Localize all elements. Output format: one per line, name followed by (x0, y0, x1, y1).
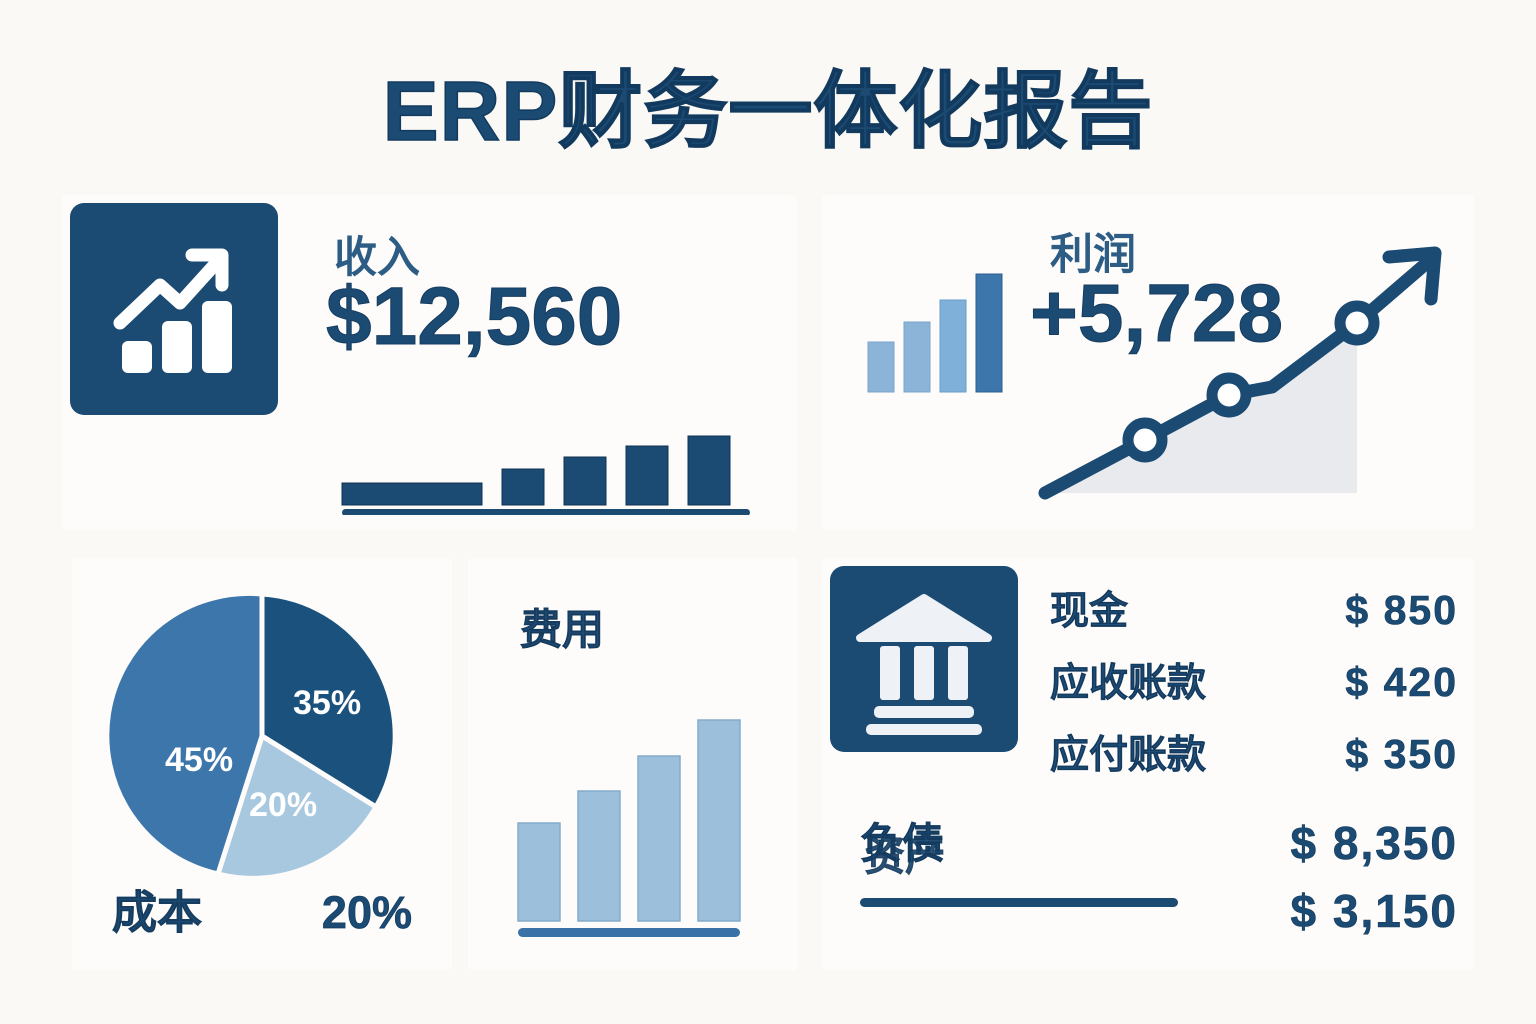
pie-label-45: 45% (165, 741, 233, 780)
cost-card: 35% 20% 45% 成本 20% (72, 558, 452, 970)
balance-total-b: $ 3,150 (1291, 884, 1458, 938)
pie-label-20: 20% (249, 786, 317, 825)
balance-row-amount: $ 850 (1345, 587, 1458, 634)
cost-pie-chart: 35% 20% 45% (107, 586, 417, 886)
balance-card: 现金 $ 850 应收账款 $ 420 应付账款 $ 350 负债 资产 $ 8… (822, 558, 1474, 970)
bank-icon (830, 566, 1018, 752)
balance-row-label: 现金 (1050, 580, 1128, 636)
profit-line-chart (1037, 235, 1457, 510)
cost-legend-value: 20% (322, 887, 412, 939)
expense-card: 费用 (468, 558, 798, 970)
growth-chart-icon (70, 203, 278, 415)
balance-row-amount: $ 350 (1345, 731, 1458, 778)
revenue-value: $12,560 (326, 270, 622, 364)
balance-divider (860, 898, 1178, 907)
expense-bar-chart (516, 688, 751, 938)
page-title: ERP财务一体化报告 (0, 44, 1536, 165)
revenue-card: 收入 $12,560 (62, 195, 797, 530)
balance-row-payable: 应付账款 $ 350 (1050, 724, 1458, 780)
revenue-bar-chart (340, 435, 760, 515)
balance-row-receivable: 应收账款 $ 420 (1050, 652, 1458, 708)
balance-rows: 现金 $ 850 应收账款 $ 420 应付账款 $ 350 (1050, 580, 1458, 796)
balance-summary-label: 负债 资产 (860, 810, 1070, 870)
cost-pie-glyph (107, 586, 417, 886)
expense-label: 费用 (520, 596, 604, 657)
balance-row-amount: $ 420 (1345, 659, 1458, 706)
profit-mini-bar-chart (864, 260, 1009, 395)
profit-card: 利润 +5,728 (822, 195, 1474, 530)
cost-legend: 成本 20% (112, 876, 412, 941)
pie-label-35: 35% (293, 684, 361, 723)
cost-legend-label: 成本 (112, 876, 202, 941)
balance-totals: 负债 资产 $ 8,350 $ 3,150 (854, 810, 1458, 950)
bank-icon-glyph (830, 566, 1018, 752)
balance-row-cash: 现金 $ 850 (1050, 580, 1458, 636)
growth-chart-icon-glyph (70, 203, 278, 415)
balance-summary-label-b: 资产 (865, 822, 946, 883)
balance-total-a: $ 8,350 (1291, 816, 1458, 870)
balance-row-label: 应收账款 (1050, 652, 1206, 708)
balance-row-label: 应付账款 (1050, 724, 1206, 780)
